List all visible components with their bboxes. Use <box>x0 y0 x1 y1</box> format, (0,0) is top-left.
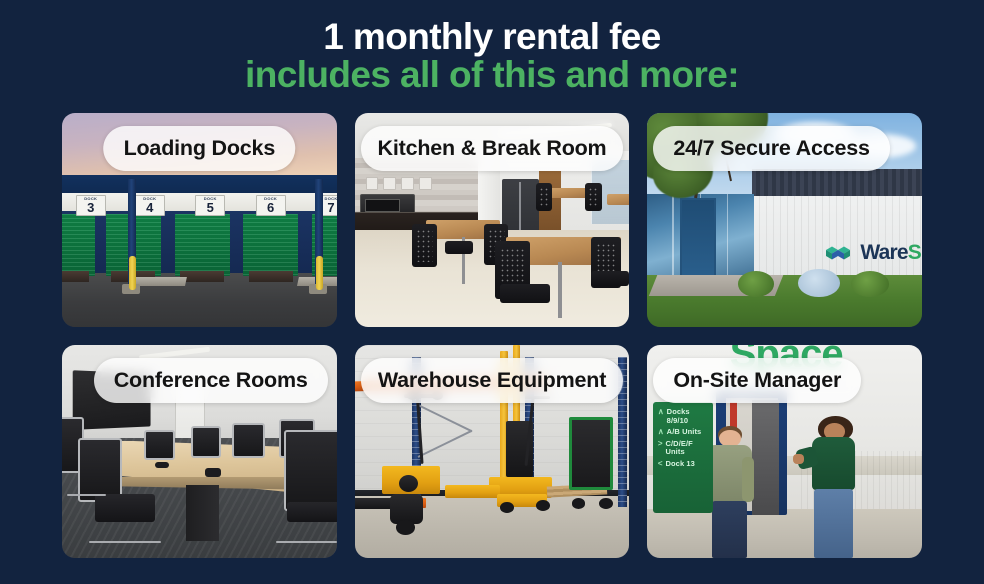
card-label-text: 24/7 Secure Access <box>673 136 869 161</box>
shrub <box>851 271 889 297</box>
card-label-text: Conference Rooms <box>114 368 308 393</box>
chair-seat <box>287 502 336 521</box>
chair-seat <box>591 271 629 286</box>
dock-sign-5: DOCK 5 <box>195 195 225 216</box>
wheel <box>536 500 550 511</box>
table <box>607 194 629 205</box>
chair-seat <box>500 284 549 303</box>
wayfinding-arrow-icon: > <box>658 440 663 449</box>
chair <box>412 224 437 267</box>
wayfinding-row: ∧ Docks 8/9/10 <box>658 408 709 425</box>
floor <box>647 509 922 558</box>
dock-sign-number: 5 <box>207 201 214 214</box>
feature-card-kitchen-break-room[interactable]: Kitchen & Break Room <box>355 113 630 327</box>
wayfinding-sign: ∧ Docks 8/9/10 ∧ A/B Units > C/D/E/F Uni… <box>653 402 713 513</box>
card-label-pill: 24/7 Secure Access <box>653 126 889 171</box>
table <box>547 188 591 199</box>
chair <box>78 438 122 502</box>
canopy <box>62 175 337 194</box>
table-grommet <box>155 462 169 468</box>
dock-sign-3: DOCK 3 <box>76 195 106 216</box>
wayfinding-row: ∧ A/B Units <box>658 428 709 437</box>
feature-card-conference-rooms[interactable]: Conference Rooms <box>62 345 337 559</box>
wheel <box>599 498 613 509</box>
table-grommet <box>205 468 221 477</box>
page-title: 1 monthly rental fee includes all of thi… <box>0 18 984 94</box>
dock-sign-6: DOCK 6 <box>256 195 286 216</box>
chair <box>144 430 174 460</box>
feature-card-secure-access[interactable]: WareSp 24/7 Secure Access <box>647 113 922 327</box>
wayfinding-arrow-icon: ∧ <box>658 428 664 437</box>
headline-line-1: 1 monthly rental fee <box>0 18 984 56</box>
wayfinding-label: C/D/E/F Units <box>665 440 709 457</box>
wayfinding-arrow-icon: ∧ <box>658 408 664 417</box>
wayfinding-label: Dock 13 <box>665 460 694 468</box>
mullion <box>727 194 729 279</box>
bollard <box>129 256 136 290</box>
shrub-flowering <box>798 269 839 297</box>
hand <box>793 454 804 464</box>
feature-card-on-site-manager[interactable]: Space ∧ Docks 8/9/10 ∧ A/B Units <box>647 345 922 559</box>
shrub <box>738 271 774 297</box>
card-label-pill: Kitchen & Break Room <box>361 126 624 171</box>
page-root: 1 monthly rental fee includes all of thi… <box>0 0 984 584</box>
dock-door <box>243 214 298 276</box>
wayfinding-arrow-icon: < <box>658 460 663 469</box>
chair <box>191 426 221 458</box>
wheel <box>572 498 586 509</box>
chair <box>536 183 552 211</box>
card-label-text: On-Site Manager <box>673 368 841 393</box>
card-label-text: Kitchen & Break Room <box>378 136 607 161</box>
mullion <box>672 194 674 279</box>
card-label-pill: Warehouse Equipment <box>361 358 624 403</box>
platform-cart <box>569 417 613 490</box>
table-base <box>186 485 219 541</box>
legs-jeans <box>712 501 747 558</box>
wayfinding-row: < Dock 13 <box>658 460 709 469</box>
warespace-logo-icon <box>825 244 855 262</box>
table-leg <box>558 262 562 318</box>
dock-sign-4: DOCK 4 <box>135 195 165 216</box>
dock-sign-number: 4 <box>146 201 153 214</box>
card-label-pill: Loading Docks <box>104 126 296 171</box>
building-logo: WareSp <box>825 241 922 265</box>
legs-jeans <box>814 489 852 558</box>
wayfinding-label: Docks 8/9/10 <box>667 408 710 425</box>
chair <box>445 241 472 254</box>
dock-bumper <box>62 271 89 282</box>
torso-polo <box>812 437 855 491</box>
dock-door <box>62 214 95 276</box>
feature-card-grid: DOCK 3 DOCK 4 DOCK 5 DOCK 6 DOCK 7 <box>62 113 922 558</box>
pallet-jack-motor <box>399 475 418 492</box>
chair <box>232 423 265 457</box>
chair-base <box>89 541 160 543</box>
card-label-text: Warehouse Equipment <box>378 368 606 393</box>
stacker-outrigger <box>445 485 500 498</box>
dock-door <box>175 214 230 276</box>
chair <box>585 183 601 211</box>
chair <box>284 430 336 511</box>
card-label-pill: On-Site Manager <box>653 358 861 403</box>
wayfinding-label: A/B Units <box>667 428 702 436</box>
wall-outlets <box>366 177 432 190</box>
feature-card-loading-docks[interactable]: DOCK 3 DOCK 4 DOCK 5 DOCK 6 DOCK 7 <box>62 113 337 327</box>
chair-base <box>67 494 105 496</box>
dock-bumper <box>249 271 293 282</box>
chair-base <box>276 541 336 543</box>
dock-sign-number: 7 <box>327 201 334 214</box>
dock-sign-number: 3 <box>87 201 94 214</box>
headline-line-2: includes all of this and more: <box>0 56 984 94</box>
metal-siding <box>752 196 922 279</box>
person-manager <box>804 417 870 558</box>
wayfinding-row: > C/D/E/F Units <box>658 440 709 457</box>
building-roof <box>752 169 922 197</box>
chair-seat <box>95 494 155 522</box>
feature-card-warehouse-equipment[interactable]: Warehouse Equipment <box>355 345 630 559</box>
bollard <box>316 256 323 290</box>
wheel <box>396 520 415 535</box>
head <box>719 430 741 447</box>
card-label-pill: Conference Rooms <box>94 358 328 403</box>
arm <box>742 457 754 502</box>
building-logo-text: WareSp <box>860 241 922 265</box>
card-label-text: Loading Docks <box>124 136 276 161</box>
dock-sign-number: 6 <box>267 201 274 214</box>
entry-door <box>680 198 716 279</box>
